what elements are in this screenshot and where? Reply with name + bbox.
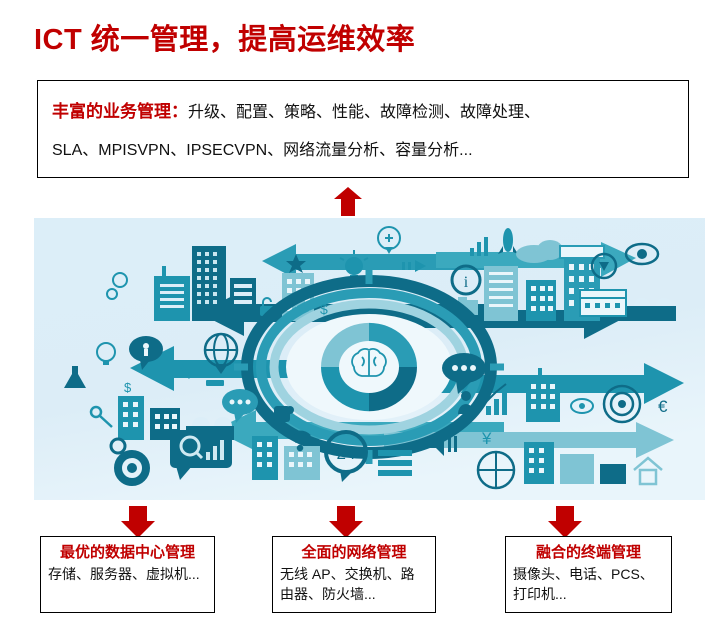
svg-text:i: i [464, 274, 469, 291]
bottom-box-datacenter: 最优的数据中心管理 存储、服务器、虚拟机... [40, 536, 215, 613]
calendar-icon [580, 290, 626, 316]
svg-text:$: $ [124, 380, 132, 395]
page-title: ICT 统一管理，提高运维效率 [34, 16, 415, 58]
bottom-box-datacenter-title: 最优的数据中心管理 [48, 543, 207, 563]
bottom-box-datacenter-body: 存储、服务器、虚拟机... [48, 564, 207, 584]
red-down-arrow-icon-1 [121, 506, 155, 538]
bottom-box-terminal-body: 摄像头、电话、PCS、打印机... [513, 564, 664, 604]
services-line-1: 丰富的业务管理：升级、配置、策略、性能、故障检测、故障处理、 [52, 93, 674, 132]
services-line-1-text: 升级、配置、策略、性能、故障检测、故障处理、 [188, 104, 540, 121]
services-line-2: SLA、MPISVPN、IPSECVPN、网络流量分析、容量分析... [52, 132, 674, 170]
bottom-box-network-title: 全面的网络管理 [280, 543, 428, 563]
euro-icon: € [658, 397, 668, 416]
bottom-box-terminal-title: 融合的终端管理 [513, 543, 664, 563]
down-arrow-shape-2 [329, 506, 363, 538]
slide-root: ICT 统一管理，提高运维效率 丰富的业务管理：升级、配置、策略、性能、故障检测… [0, 0, 726, 629]
card-icon [206, 380, 224, 386]
yen-icon: ¥ [481, 429, 492, 448]
bottom-box-network: 全面的网络管理 无线 AP、交换机、路由器、防火墙... [272, 536, 436, 613]
red-down-arrow-icon-2 [329, 506, 363, 538]
down-arrow-shape-1 [121, 506, 155, 538]
red-up-arrow-icon [334, 187, 362, 216]
red-down-arrow-icon-3 [548, 506, 582, 538]
bottom-box-terminal: 融合的终端管理 摄像头、电话、PCS、打印机... [505, 536, 672, 613]
umbrella-icon [478, 452, 514, 488]
server-icon [378, 450, 412, 476]
money-icon: $ [320, 301, 328, 317]
services-heading: 丰富的业务管理： [52, 102, 188, 121]
up-arrow-shape [334, 187, 362, 216]
bottom-box-network-body: 无线 AP、交换机、路由器、防火墙... [280, 564, 428, 604]
infographic-artwork: % [34, 218, 705, 500]
down-arrow-shape-3 [548, 506, 582, 538]
services-description-box: 丰富的业务管理：升级、配置、策略、性能、故障检测、故障处理、 SLA、MPISV… [37, 80, 689, 178]
ict-infographic: % [34, 218, 705, 500]
svg-text:24: 24 [337, 444, 356, 463]
